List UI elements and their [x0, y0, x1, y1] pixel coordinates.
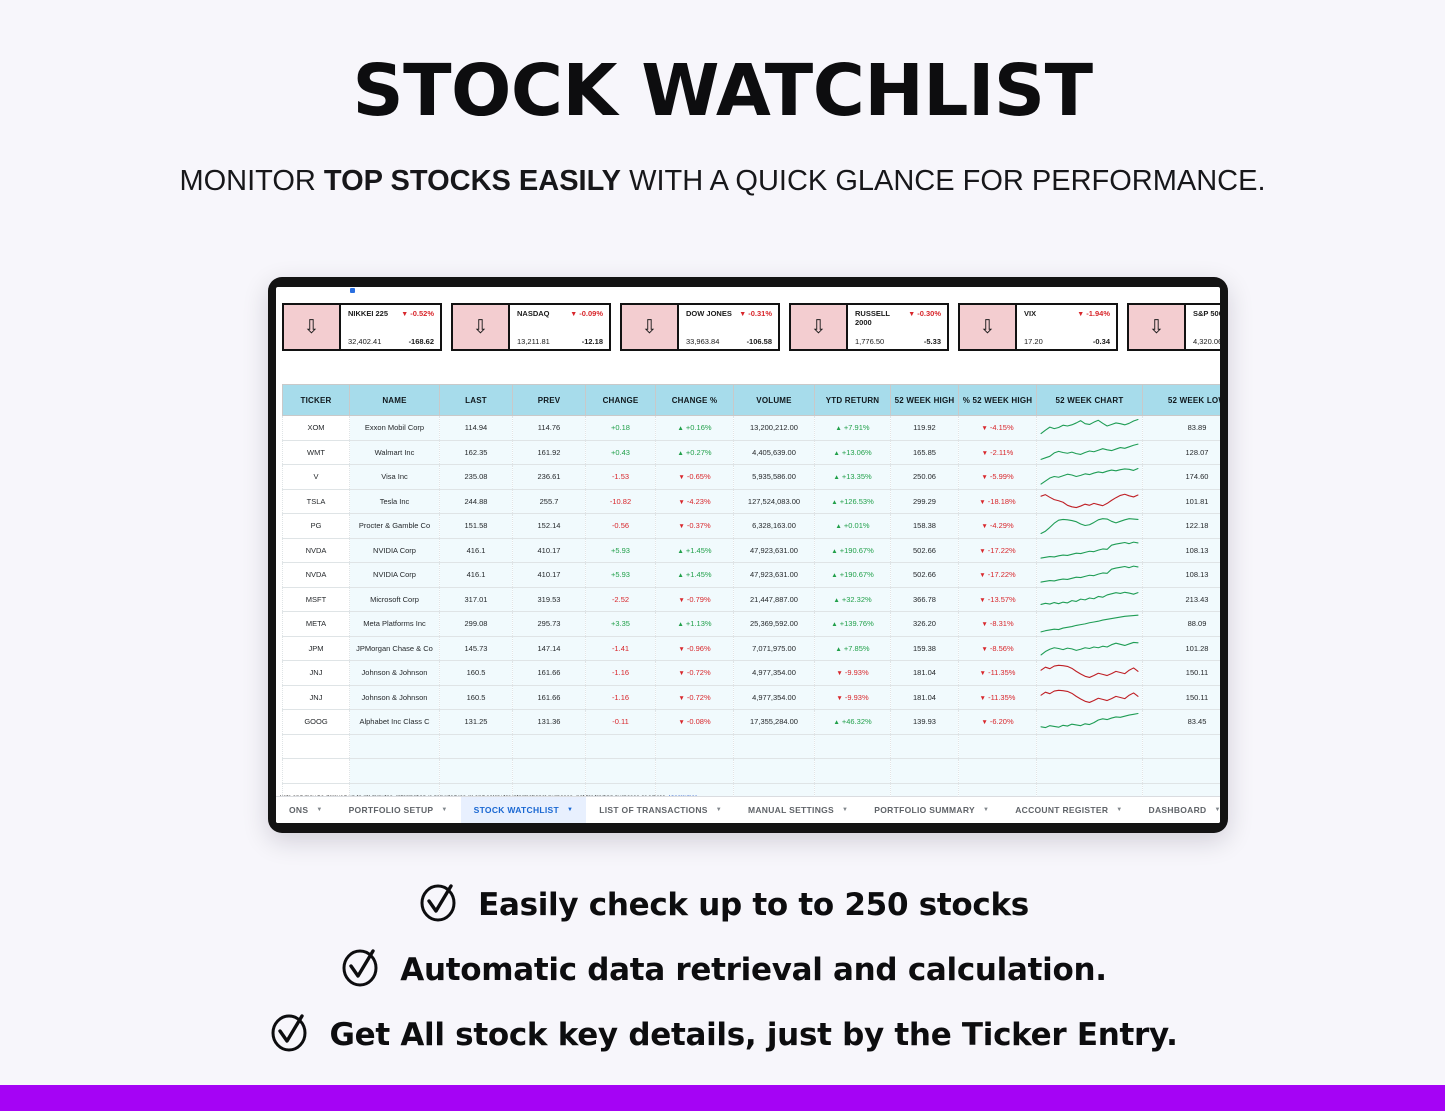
- triangle-down-icon: ▼: [908, 311, 915, 318]
- cell-prev[interactable]: 255.7: [513, 489, 586, 514]
- cell-prev[interactable]: 152.14: [513, 514, 586, 539]
- cell-percent-52week-high[interactable]: ▼ -8.56%: [959, 636, 1037, 661]
- table-row[interactable]: JNJJohnson & Johnson160.5161.66-1.16▼ -0…: [283, 661, 1221, 686]
- page-title: STOCK WATCHLIST: [0, 54, 1445, 129]
- cell-name[interactable]: NVIDIA Corp: [350, 538, 440, 563]
- index-percent: ▼ -0.52%: [401, 309, 434, 318]
- cell-empty[interactable]: [350, 759, 440, 784]
- cursor-marker-icon: [350, 288, 355, 293]
- sheet-tab-label: ONS: [289, 805, 308, 815]
- sheet-tab-manual-settings[interactable]: MANUAL SETTINGS▼: [735, 797, 861, 823]
- feature-bullet-label: Automatic data retrieval and calculation…: [400, 952, 1106, 988]
- cell-prev[interactable]: 319.53: [513, 587, 586, 612]
- cell-52week-chart-sparkline: [1037, 489, 1143, 514]
- triangle-up-icon: ▲: [831, 572, 837, 579]
- triangle-up-icon: ▲: [835, 646, 841, 653]
- index-percent: ▼ -0.30%: [908, 309, 941, 318]
- table-row[interactable]: WMTWalmart Inc162.35161.92+0.43▲ +0.27%4…: [283, 440, 1221, 465]
- cell-52week-high[interactable]: 159.38: [891, 636, 959, 661]
- feature-bullet-label: Get All stock key details, just by the T…: [329, 1017, 1177, 1053]
- cell-volume[interactable]: 21,447,887.00: [734, 587, 815, 612]
- check-circle-icon: [267, 1010, 311, 1059]
- cell-last[interactable]: 416.1: [440, 538, 513, 563]
- triangle-down-icon: ▼: [678, 719, 684, 726]
- cell-52week-chart-sparkline: [1037, 440, 1143, 465]
- cell-ytd-return[interactable]: ▲ +13.35%: [815, 465, 891, 490]
- cell-name[interactable]: Walmart Inc: [350, 440, 440, 465]
- cell-volume[interactable]: 127,524,083.00: [734, 489, 815, 514]
- cell-52week-low[interactable]: 128.07: [1143, 440, 1221, 465]
- index-name: VIX: [1024, 309, 1036, 318]
- index-value: 1,776.50: [855, 337, 884, 346]
- cell-52week-low[interactable]: 174.60: [1143, 465, 1221, 490]
- cell-52week-chart-sparkline: [1037, 661, 1143, 686]
- cell-empty[interactable]: [734, 734, 815, 759]
- spreadsheet-screen: ⇩NIKKEI 225▼ -0.52%32,402.41-168.62⇩NASD…: [276, 287, 1220, 823]
- triangle-up-icon: ▲: [833, 597, 839, 604]
- cell-change[interactable]: -1.53: [586, 465, 656, 490]
- check-circle-icon: [416, 880, 460, 929]
- column-header-52-week-chart[interactable]: 52 WEEK CHART: [1037, 385, 1143, 416]
- index-body: NIKKEI 225▼ -0.52%32,402.41-168.62: [339, 305, 440, 349]
- index-body: S&P 500▼ -0.23%4,320.06-9.94: [1184, 305, 1220, 349]
- cell-volume[interactable]: 6,328,163.00: [734, 514, 815, 539]
- index-arrow-down-icon: ⇩: [622, 305, 677, 349]
- cell-52week-high[interactable]: 119.92: [891, 416, 959, 441]
- cell-empty[interactable]: [1037, 759, 1143, 784]
- cell-volume[interactable]: 17,355,284.00: [734, 710, 815, 735]
- cell-ytd-return[interactable]: ▲ +46.32%: [815, 710, 891, 735]
- cell-volume[interactable]: 5,935,586.00: [734, 465, 815, 490]
- cell-52week-low[interactable]: 83.45: [1143, 710, 1221, 735]
- cell-last[interactable]: 160.5: [440, 685, 513, 710]
- cell-change[interactable]: +5.93: [586, 538, 656, 563]
- column-header-prev[interactable]: PREV: [513, 385, 586, 416]
- cell-last[interactable]: 131.25: [440, 710, 513, 735]
- cell-change[interactable]: -1.16: [586, 661, 656, 686]
- cell-name[interactable]: Procter & Gamble Co: [350, 514, 440, 539]
- cell-empty[interactable]: [1143, 759, 1221, 784]
- index-change: -5.33: [924, 337, 941, 346]
- table-row[interactable]: NVDANVIDIA Corp416.1410.17+5.93▲ +1.45%4…: [283, 538, 1221, 563]
- cell-prev[interactable]: 147.14: [513, 636, 586, 661]
- cell-52week-high[interactable]: 158.38: [891, 514, 959, 539]
- feature-bullet-list: Easily check up to to 250 stocksAutomati…: [0, 880, 1445, 1075]
- cell-52week-high[interactable]: 181.04: [891, 661, 959, 686]
- triangle-down-icon: ▼: [981, 474, 987, 481]
- triangle-up-icon: ▲: [677, 572, 683, 579]
- cell-change-percent[interactable]: ▼ -0.96%: [656, 636, 734, 661]
- index-percent: ▼ -1.94%: [1077, 309, 1110, 318]
- cell-last[interactable]: 162.35: [440, 440, 513, 465]
- cell-52week-high[interactable]: 366.78: [891, 587, 959, 612]
- table-header-row: TICKERNAMELASTPREVCHANGECHANGE %VOLUMEYT…: [283, 385, 1221, 416]
- cell-change-percent[interactable]: ▲ +0.16%: [656, 416, 734, 441]
- sheet-tab-label: PORTFOLIO SETUP: [349, 805, 434, 815]
- cell-ytd-return[interactable]: ▲ +139.76%: [815, 612, 891, 637]
- cell-percent-52week-high[interactable]: ▼ -4.29%: [959, 514, 1037, 539]
- cell-name[interactable]: JPMorgan Chase & Co: [350, 636, 440, 661]
- chevron-down-icon[interactable]: ▼: [842, 807, 848, 813]
- sheet-tab-stock-watchlist[interactable]: STOCK WATCHLIST▼: [461, 797, 587, 823]
- cell-empty[interactable]: [891, 759, 959, 784]
- market-index-strip: ⇩NIKKEI 225▼ -0.52%32,402.41-168.62⇩NASD…: [282, 303, 1220, 351]
- cell-52week-low[interactable]: 101.28: [1143, 636, 1221, 661]
- index-card: ⇩DOW JONES▼ -0.31%33,963.84-106.58: [620, 303, 780, 351]
- chevron-down-icon[interactable]: ▼: [316, 807, 322, 813]
- cell-empty[interactable]: [656, 759, 734, 784]
- cell-ticker[interactable]: TSLA: [283, 489, 350, 514]
- cell-volume[interactable]: 7,071,975.00: [734, 636, 815, 661]
- cell-empty[interactable]: [283, 759, 350, 784]
- cell-name[interactable]: Exxon Mobil Corp: [350, 416, 440, 441]
- cell-52week-chart-sparkline: [1037, 538, 1143, 563]
- triangle-up-icon: ▲: [833, 450, 839, 457]
- index-change: -168.62: [409, 337, 434, 346]
- chevron-down-icon[interactable]: ▼: [1116, 807, 1122, 813]
- cell-empty[interactable]: [1037, 734, 1143, 759]
- cell-change[interactable]: +0.43: [586, 440, 656, 465]
- cell-ticker[interactable]: V: [283, 465, 350, 490]
- index-value: 32,402.41: [348, 337, 381, 346]
- watchlist-sheet[interactable]: TICKERNAMELASTPREVCHANGECHANGE %VOLUMEYT…: [282, 384, 1215, 808]
- cell-name[interactable]: Tesla Inc: [350, 489, 440, 514]
- cell-ytd-return[interactable]: ▼ -9.93%: [815, 661, 891, 686]
- table-row[interactable]: NVDANVIDIA Corp416.1410.17+5.93▲ +1.45%4…: [283, 563, 1221, 588]
- cell-percent-52week-high[interactable]: ▼ -2.11%: [959, 440, 1037, 465]
- table-row[interactable]: VVisa Inc235.08236.61-1.53▼ -0.65%5,935,…: [283, 465, 1221, 490]
- cell-52week-low[interactable]: 150.11: [1143, 685, 1221, 710]
- cell-empty[interactable]: [1143, 734, 1221, 759]
- triangle-down-icon: ▼: [981, 425, 987, 432]
- cell-empty[interactable]: [350, 734, 440, 759]
- cell-percent-52week-high[interactable]: ▼ -17.22%: [959, 538, 1037, 563]
- cell-change-percent[interactable]: ▼ -0.37%: [656, 514, 734, 539]
- cell-prev[interactable]: 114.76: [513, 416, 586, 441]
- column-header-change[interactable]: CHANGE: [586, 385, 656, 416]
- cell-name[interactable]: Microsoft Corp: [350, 587, 440, 612]
- cell-change-percent[interactable]: ▲ +0.27%: [656, 440, 734, 465]
- cell-ticker[interactable]: NVDA: [283, 563, 350, 588]
- index-card: ⇩S&P 500▼ -0.23%4,320.06-9.94: [1127, 303, 1220, 351]
- chevron-down-icon[interactable]: ▼: [567, 807, 573, 813]
- sheet-tab-label: LIST OF TRANSACTIONS: [599, 805, 707, 815]
- column-header-ticker[interactable]: TICKER: [283, 385, 350, 416]
- cell-prev[interactable]: 131.36: [513, 710, 586, 735]
- cell-52week-low[interactable]: 150.11: [1143, 661, 1221, 686]
- feature-bullet: Easily check up to to 250 stocks: [0, 880, 1445, 929]
- cell-ytd-return[interactable]: ▲ +190.67%: [815, 563, 891, 588]
- cell-change-percent[interactable]: ▼ -0.08%: [656, 710, 734, 735]
- cell-change-percent[interactable]: ▲ +1.45%: [656, 563, 734, 588]
- triangle-up-icon: ▲: [677, 450, 683, 457]
- index-name: S&P 500: [1193, 309, 1220, 318]
- cell-change-percent[interactable]: ▼ -0.79%: [656, 587, 734, 612]
- index-body: VIX▼ -1.94%17.20-0.34: [1015, 305, 1116, 349]
- column-header-52-week-high[interactable]: % 52 WEEK HIGH: [959, 385, 1037, 416]
- cell-percent-52week-high[interactable]: ▼ -18.18%: [959, 489, 1037, 514]
- cell-last[interactable]: 235.08: [440, 465, 513, 490]
- index-arrow-down-icon: ⇩: [791, 305, 846, 349]
- index-arrow-down-icon: ⇩: [960, 305, 1015, 349]
- chevron-down-icon[interactable]: ▼: [1215, 807, 1221, 813]
- table-row[interactable]: PGProcter & Gamble Co151.58152.14-0.56▼ …: [283, 514, 1221, 539]
- column-header-name[interactable]: NAME: [350, 385, 440, 416]
- sheet-tab-portfolio-setup[interactable]: PORTFOLIO SETUP▼: [336, 797, 461, 823]
- cell-change-percent[interactable]: ▼ -0.72%: [656, 685, 734, 710]
- triangle-down-icon: ▼: [678, 474, 684, 481]
- cell-ytd-return[interactable]: ▲ +0.01%: [815, 514, 891, 539]
- cell-52week-low[interactable]: 88.09: [1143, 612, 1221, 637]
- cell-prev[interactable]: 161.66: [513, 685, 586, 710]
- index-name: NASDAQ: [517, 309, 550, 318]
- cell-ytd-return[interactable]: ▲ +13.06%: [815, 440, 891, 465]
- cell-52week-high[interactable]: 299.29: [891, 489, 959, 514]
- column-header-change[interactable]: CHANGE %: [656, 385, 734, 416]
- cell-volume[interactable]: 4,405,639.00: [734, 440, 815, 465]
- cell-ytd-return[interactable]: ▲ +32.32%: [815, 587, 891, 612]
- cell-52week-chart-sparkline: [1037, 416, 1143, 441]
- cell-empty[interactable]: [959, 734, 1037, 759]
- cell-52week-chart-sparkline: [1037, 612, 1143, 637]
- cell-name[interactable]: Alphabet Inc Class C: [350, 710, 440, 735]
- cell-name[interactable]: Meta Platforms Inc: [350, 612, 440, 637]
- cell-percent-52week-high[interactable]: ▼ -4.15%: [959, 416, 1037, 441]
- cell-percent-52week-high[interactable]: ▼ -13.57%: [959, 587, 1037, 612]
- column-header-last[interactable]: LAST: [440, 385, 513, 416]
- cell-volume[interactable]: 4,977,354.00: [734, 685, 815, 710]
- cell-prev[interactable]: 161.66: [513, 661, 586, 686]
- cell-ticker[interactable]: GOOG: [283, 710, 350, 735]
- cell-change[interactable]: -1.16: [586, 685, 656, 710]
- sheet-tab-portfolio-summary[interactable]: PORTFOLIO SUMMARY▼: [861, 797, 1002, 823]
- cell-last[interactable]: 416.1: [440, 563, 513, 588]
- cell-name[interactable]: NVIDIA Corp: [350, 563, 440, 588]
- cell-ytd-return[interactable]: ▲ +7.85%: [815, 636, 891, 661]
- cell-ticker[interactable]: JNJ: [283, 661, 350, 686]
- triangle-down-icon: ▼: [981, 523, 987, 530]
- cell-change[interactable]: -0.56: [586, 514, 656, 539]
- cell-change[interactable]: +5.93: [586, 563, 656, 588]
- cell-prev[interactable]: 410.17: [513, 538, 586, 563]
- cell-empty[interactable]: [815, 759, 891, 784]
- cell-52week-high[interactable]: 165.85: [891, 440, 959, 465]
- index-arrow-down-icon: ⇩: [453, 305, 508, 349]
- cell-ticker[interactable]: PG: [283, 514, 350, 539]
- cell-52week-low[interactable]: 101.81: [1143, 489, 1221, 514]
- cell-last[interactable]: 317.01: [440, 587, 513, 612]
- triangle-up-icon: ▲: [833, 474, 839, 481]
- cell-ytd-return[interactable]: ▲ +126.53%: [815, 489, 891, 514]
- index-value: 13,211.81: [517, 337, 550, 346]
- triangle-up-icon: ▲: [677, 548, 683, 555]
- column-header-52-week-high[interactable]: 52 WEEK HIGH: [891, 385, 959, 416]
- sheet-tab-account-register[interactable]: ACCOUNT REGISTER▼: [1002, 797, 1135, 823]
- cell-volume[interactable]: 13,200,212.00: [734, 416, 815, 441]
- cell-percent-52week-high[interactable]: ▼ -6.20%: [959, 710, 1037, 735]
- table-row[interactable]: GOOGAlphabet Inc Class C131.25131.36-0.1…: [283, 710, 1221, 735]
- cell-52week-high[interactable]: 502.66: [891, 563, 959, 588]
- cell-52week-high[interactable]: 326.20: [891, 612, 959, 637]
- cell-52week-low[interactable]: 122.18: [1143, 514, 1221, 539]
- cell-last[interactable]: 145.73: [440, 636, 513, 661]
- cell-ticker[interactable]: MSFT: [283, 587, 350, 612]
- table-row[interactable]: MSFTMicrosoft Corp317.01319.53-2.52▼ -0.…: [283, 587, 1221, 612]
- table-row[interactable]: TSLATesla Inc244.88255.7-10.82▼ -4.23%12…: [283, 489, 1221, 514]
- cell-ytd-return[interactable]: ▲ +190.67%: [815, 538, 891, 563]
- cell-empty[interactable]: [959, 759, 1037, 784]
- cell-52week-low[interactable]: 108.13: [1143, 563, 1221, 588]
- index-card: ⇩NIKKEI 225▼ -0.52%32,402.41-168.62: [282, 303, 442, 351]
- triangle-down-icon: ▼: [739, 311, 746, 318]
- cell-empty[interactable]: [656, 734, 734, 759]
- chevron-down-icon[interactable]: ▼: [716, 807, 722, 813]
- cell-empty[interactable]: [586, 759, 656, 784]
- index-body: RUSSELL 2000▼ -0.30%1,776.50-5.33: [846, 305, 947, 349]
- cell-volume[interactable]: 25,369,592.00: [734, 612, 815, 637]
- cell-percent-52week-high[interactable]: ▼ -17.22%: [959, 563, 1037, 588]
- cell-52week-high[interactable]: 181.04: [891, 685, 959, 710]
- table-row[interactable]: METAMeta Platforms Inc299.08295.73+3.35▲…: [283, 612, 1221, 637]
- cell-52week-low[interactable]: 83.89: [1143, 416, 1221, 441]
- check-circle-icon: [338, 945, 382, 994]
- cell-change[interactable]: -1.41: [586, 636, 656, 661]
- cell-52week-high[interactable]: 250.06: [891, 465, 959, 490]
- cell-prev[interactable]: 236.61: [513, 465, 586, 490]
- feature-bullet: Automatic data retrieval and calculation…: [0, 945, 1445, 994]
- cell-52week-high[interactable]: 139.93: [891, 710, 959, 735]
- index-card: ⇩RUSSELL 2000▼ -0.30%1,776.50-5.33: [789, 303, 949, 351]
- triangle-down-icon: ▼: [981, 646, 987, 653]
- cell-change-percent[interactable]: ▲ +1.13%: [656, 612, 734, 637]
- triangle-down-icon: ▼: [979, 548, 985, 555]
- sheet-tab-list-of-transactions[interactable]: LIST OF TRANSACTIONS▼: [586, 797, 735, 823]
- table-row[interactable]: XOMExxon Mobil Corp114.94114.76+0.18▲ +0…: [283, 416, 1221, 441]
- cell-prev[interactable]: 410.17: [513, 563, 586, 588]
- index-value: 17.20: [1024, 337, 1043, 346]
- cell-52week-chart-sparkline: [1037, 587, 1143, 612]
- cell-ticker[interactable]: WMT: [283, 440, 350, 465]
- cell-empty[interactable]: [440, 759, 513, 784]
- cell-ytd-return[interactable]: ▲ +7.91%: [815, 416, 891, 441]
- cell-volume[interactable]: 4,977,354.00: [734, 661, 815, 686]
- index-percent: ▼ -0.09%: [570, 309, 603, 318]
- triangle-down-icon: ▼: [1077, 311, 1084, 318]
- cell-52week-low[interactable]: 108.13: [1143, 538, 1221, 563]
- laptop-frame: ⇩NIKKEI 225▼ -0.52%32,402.41-168.62⇩NASD…: [268, 277, 1228, 833]
- cell-empty[interactable]: [440, 734, 513, 759]
- triangle-down-icon: ▼: [401, 311, 408, 318]
- cell-empty[interactable]: [891, 734, 959, 759]
- cell-change[interactable]: +3.35: [586, 612, 656, 637]
- sheet-tab-label: DASHBOARD: [1149, 805, 1207, 815]
- cell-52week-high[interactable]: 502.66: [891, 538, 959, 563]
- cell-change-percent[interactable]: ▲ +1.45%: [656, 538, 734, 563]
- cell-empty[interactable]: [513, 734, 586, 759]
- index-value: 4,320.06: [1193, 337, 1220, 346]
- cell-52week-low[interactable]: 213.43: [1143, 587, 1221, 612]
- cell-volume[interactable]: 47,923,631.00: [734, 538, 815, 563]
- index-value: 33,963.84: [686, 337, 719, 346]
- sheet-tab-label: PORTFOLIO SUMMARY: [874, 805, 975, 815]
- triangle-down-icon: ▼: [979, 597, 985, 604]
- cell-empty[interactable]: [815, 734, 891, 759]
- cell-last[interactable]: 151.58: [440, 514, 513, 539]
- triangle-up-icon: ▲: [831, 499, 837, 506]
- table-row[interactable]: JPMJPMorgan Chase & Co145.73147.14-1.41▼…: [283, 636, 1221, 661]
- cell-prev[interactable]: 161.92: [513, 440, 586, 465]
- cell-ticker[interactable]: NVDA: [283, 538, 350, 563]
- cell-change[interactable]: -0.11: [586, 710, 656, 735]
- cell-last[interactable]: 244.88: [440, 489, 513, 514]
- cell-empty[interactable]: [283, 734, 350, 759]
- triangle-down-icon: ▼: [980, 695, 986, 702]
- table-row-empty[interactable]: [283, 734, 1221, 759]
- triangle-up-icon: ▲: [831, 621, 837, 628]
- cell-name[interactable]: Johnson & Johnson: [350, 685, 440, 710]
- table-row[interactable]: JNJJohnson & Johnson160.5161.66-1.16▼ -0…: [283, 685, 1221, 710]
- cell-empty[interactable]: [586, 734, 656, 759]
- cell-change-percent[interactable]: ▼ -4.23%: [656, 489, 734, 514]
- table-body: XOMExxon Mobil Corp114.94114.76+0.18▲ +0…: [283, 416, 1221, 808]
- cell-empty[interactable]: [513, 759, 586, 784]
- triangle-down-icon: ▼: [678, 670, 684, 677]
- cell-ytd-return[interactable]: ▼ -9.93%: [815, 685, 891, 710]
- column-header-volume[interactable]: VOLUME: [734, 385, 815, 416]
- cell-ticker[interactable]: JNJ: [283, 685, 350, 710]
- cell-name[interactable]: Johnson & Johnson: [350, 661, 440, 686]
- cell-last[interactable]: 114.94: [440, 416, 513, 441]
- feature-bullet-label: Easily check up to to 250 stocks: [478, 887, 1029, 923]
- cell-percent-52week-high[interactable]: ▼ -11.35%: [959, 661, 1037, 686]
- column-header-52-week-low[interactable]: 52 WEEK LOW: [1143, 385, 1221, 416]
- index-arrow-down-icon: ⇩: [1129, 305, 1184, 349]
- index-card: ⇩VIX▼ -1.94%17.20-0.34: [958, 303, 1118, 351]
- cell-change-percent[interactable]: ▼ -0.65%: [656, 465, 734, 490]
- cell-percent-52week-high[interactable]: ▼ -11.35%: [959, 685, 1037, 710]
- cell-ticker[interactable]: META: [283, 612, 350, 637]
- cell-prev[interactable]: 295.73: [513, 612, 586, 637]
- sheet-tab-ons[interactable]: ONS▼: [276, 797, 336, 823]
- sheet-tab-bar[interactable]: ONS▼PORTFOLIO SETUP▼STOCK WATCHLIST▼LIST…: [276, 796, 1220, 823]
- cell-empty[interactable]: [734, 759, 815, 784]
- index-name: RUSSELL 2000: [855, 309, 901, 327]
- chevron-down-icon[interactable]: ▼: [983, 807, 989, 813]
- cell-percent-52week-high[interactable]: ▼ -5.99%: [959, 465, 1037, 490]
- cell-last[interactable]: 160.5: [440, 661, 513, 686]
- chevron-down-icon[interactable]: ▼: [441, 807, 447, 813]
- cell-change[interactable]: +0.18: [586, 416, 656, 441]
- table-row-empty[interactable]: [283, 759, 1221, 784]
- column-header-ytd-return[interactable]: YTD RETURN: [815, 385, 891, 416]
- triangle-up-icon: ▲: [833, 719, 839, 726]
- cell-change[interactable]: -2.52: [586, 587, 656, 612]
- cell-name[interactable]: Visa Inc: [350, 465, 440, 490]
- triangle-down-icon: ▼: [570, 311, 577, 318]
- cell-52week-chart-sparkline: [1037, 685, 1143, 710]
- cell-change-percent[interactable]: ▼ -0.72%: [656, 661, 734, 686]
- cell-ticker[interactable]: XOM: [283, 416, 350, 441]
- cell-percent-52week-high[interactable]: ▼ -8.31%: [959, 612, 1037, 637]
- triangle-down-icon: ▼: [836, 695, 842, 702]
- sheet-tab-dashboard[interactable]: DASHBOARD▼: [1136, 797, 1220, 823]
- cell-change[interactable]: -10.82: [586, 489, 656, 514]
- cell-volume[interactable]: 47,923,631.00: [734, 563, 815, 588]
- index-name: DOW JONES: [686, 309, 732, 318]
- triangle-down-icon: ▼: [980, 670, 986, 677]
- cell-ticker[interactable]: JPM: [283, 636, 350, 661]
- cell-last[interactable]: 299.08: [440, 612, 513, 637]
